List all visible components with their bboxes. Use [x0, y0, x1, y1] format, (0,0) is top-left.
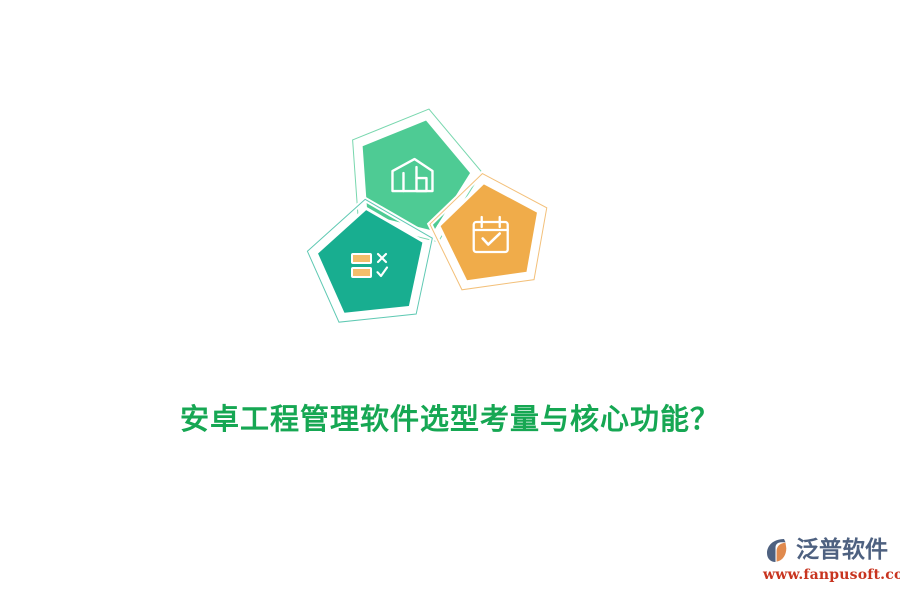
fanpu-logo-icon: [764, 535, 794, 565]
hero-illustration: [300, 105, 560, 345]
checklist-bar-1: [352, 254, 371, 263]
brand-watermark: 泛普软件 www.fanpusoft.com: [763, 534, 888, 592]
brand-url: www.fanpusoft.com: [763, 566, 888, 584]
page-canvas: 安卓工程管理软件选型考量与核心功能？ 泛普软件 www.fanpusoft.co…: [0, 0, 900, 600]
page-title: 安卓工程管理软件选型考量与核心功能？: [0, 396, 900, 438]
brand-name: 泛普软件: [796, 537, 888, 563]
checklist-bar-2: [352, 268, 371, 277]
